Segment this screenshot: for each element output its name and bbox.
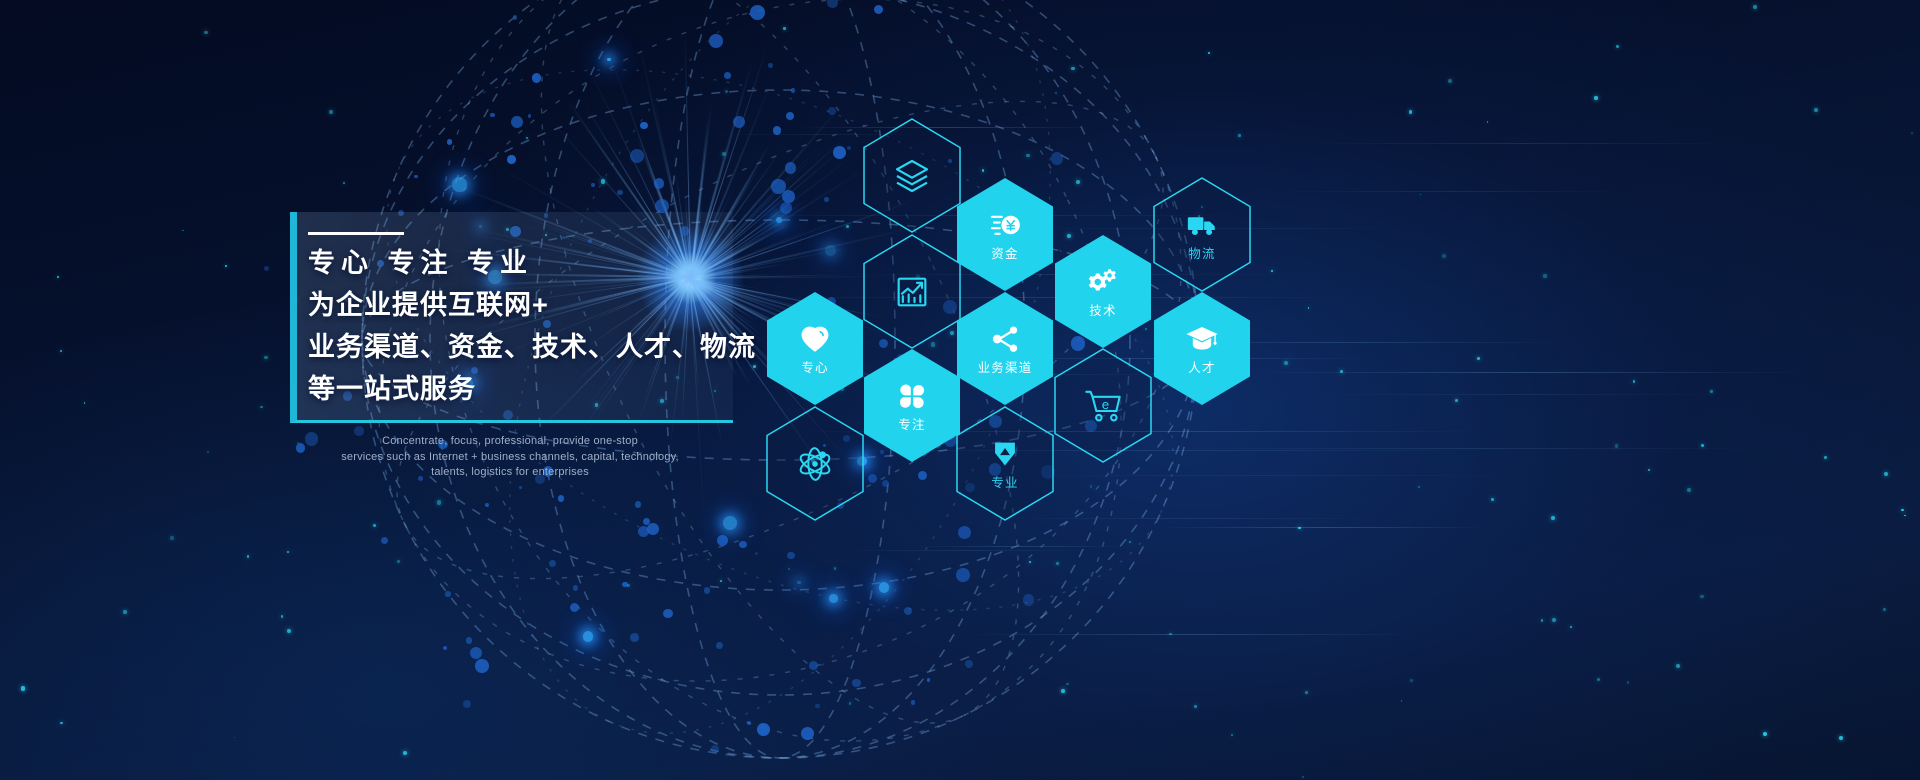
headline-line: 专心 专注 专业 [308, 242, 738, 284]
background-sparkle [1409, 110, 1413, 114]
background-sparkle [287, 551, 289, 553]
hex-content: 业务渠道 [955, 291, 1055, 406]
background-sparkle [397, 560, 400, 563]
background-sparkle [1340, 370, 1343, 373]
light-streak [1163, 527, 1485, 528]
background-sparkle [783, 27, 786, 30]
background-sparkle [1284, 361, 1288, 365]
background-node-dot [607, 58, 611, 62]
background-node-dot [733, 116, 745, 128]
background-node-dot [570, 603, 580, 613]
hex-content: 资金 [955, 177, 1055, 292]
background-node-dot [833, 146, 846, 159]
background-sparkle [1676, 664, 1680, 668]
background-node-dot [630, 149, 644, 163]
subtitle-line: services such as Internet + business cha… [330, 450, 690, 466]
background-node-dot [558, 495, 564, 501]
background-sparkle [1418, 486, 1420, 488]
background-sparkle [170, 536, 174, 540]
background-node-dot [882, 480, 889, 487]
graduation-cap-icon [1185, 322, 1219, 356]
background-node-dot [809, 661, 818, 670]
atom-icon [795, 444, 835, 484]
hex-tile-tech[interactable]: 技术 [1053, 234, 1153, 349]
background-sparkle [753, 365, 756, 368]
background-sparkle [207, 451, 209, 453]
background-sparkle [1627, 681, 1630, 684]
background-node-dot [264, 266, 269, 271]
background-sparkle [1594, 96, 1597, 99]
background-sparkle [1824, 456, 1827, 459]
background-node-dot [519, 486, 522, 489]
background-node-dot [904, 607, 912, 615]
background-node-dot [1023, 594, 1035, 606]
background-sparkle [1839, 736, 1843, 740]
background-sparkle [247, 555, 249, 557]
background-node-dot [643, 518, 651, 526]
background-node-dot [828, 107, 836, 115]
background-node-dot [475, 659, 489, 673]
hex-content [765, 406, 865, 521]
background-sparkle [1491, 498, 1494, 501]
background-sparkle [725, 90, 728, 93]
light-streak [1249, 372, 1807, 373]
background-sparkle [1169, 633, 1171, 635]
hex-label: 物流 [1188, 248, 1215, 261]
background-sparkle [343, 182, 345, 184]
background-sparkle [1305, 691, 1308, 694]
background-node-dot [786, 112, 794, 120]
background-sparkle [627, 584, 630, 587]
background-node-dot [717, 535, 728, 546]
background-node-dot [801, 727, 814, 740]
hex-label: 技术 [1089, 305, 1116, 318]
background-node-dot [583, 631, 594, 642]
hex-label: 业务渠道 [978, 362, 1033, 375]
background-node-dot [507, 155, 516, 164]
background-node-dot [747, 721, 750, 724]
background-sparkle [123, 610, 127, 614]
background-node-dot [485, 503, 489, 507]
background-sparkle [373, 524, 376, 527]
background-node-dot [573, 585, 578, 590]
background-node-dot [296, 443, 306, 453]
background-node-dot [724, 72, 731, 79]
background-sparkle [1194, 705, 1197, 708]
background-sparkle [1090, 485, 1092, 487]
yen-coin-icon [988, 208, 1022, 242]
background-sparkle [297, 442, 299, 444]
light-streak [1311, 394, 1728, 395]
truck-icon [1185, 208, 1219, 242]
background-sparkle [1753, 5, 1757, 9]
background-sparkle [1029, 561, 1031, 563]
background-sparkle [1763, 732, 1767, 736]
light-streak [1177, 448, 1772, 449]
background-sparkle [1026, 154, 1030, 158]
background-node-dot [739, 541, 747, 549]
background-sparkle [1633, 380, 1635, 382]
light-streak [1276, 191, 1628, 192]
background-sparkle [1477, 357, 1480, 360]
light-streak [837, 550, 1092, 551]
clover-icon [895, 379, 929, 413]
background-sparkle [1648, 469, 1651, 472]
background-sparkle [1687, 488, 1691, 492]
background-node-dot [549, 560, 556, 567]
background-sparkle [788, 568, 790, 570]
background-sparkle [21, 686, 25, 690]
background-sparkle [1271, 270, 1273, 272]
background-node-dot [782, 190, 795, 203]
background-node-dot [452, 177, 467, 192]
background-node-dot [918, 471, 927, 480]
background-sparkle [287, 629, 291, 633]
background-sparkle [849, 702, 852, 705]
background-node-dot [414, 175, 418, 179]
background-node-dot [827, 0, 837, 8]
background-node-dot [622, 582, 628, 588]
background-node-dot [381, 537, 388, 544]
background-sparkle [1302, 776, 1304, 778]
background-sparkle [1911, 132, 1913, 134]
background-sparkle [1056, 562, 1059, 565]
hex-content: 物流 [1152, 177, 1252, 292]
background-node-dot [927, 678, 930, 681]
background-sparkle [1487, 121, 1489, 123]
background-node-dot [704, 587, 711, 594]
background-node-dot [528, 114, 532, 118]
background-node-dot [787, 552, 794, 559]
background-sparkle [1455, 399, 1458, 402]
background-node-dot [958, 526, 971, 539]
gears-icon [1086, 265, 1120, 299]
background-node-dot [638, 526, 649, 537]
light-streak [961, 634, 1419, 635]
background-sparkle [1308, 307, 1310, 309]
background-sparkle [1701, 444, 1704, 447]
background-sparkle [526, 137, 528, 139]
background-node-dot [711, 745, 719, 753]
background-node-dot [1051, 152, 1064, 165]
background-sparkle [182, 230, 184, 232]
background-sparkle [1814, 108, 1818, 112]
hex-label: 专业 [991, 477, 1018, 490]
background-sparkle [1066, 683, 1069, 686]
background-sparkle [437, 500, 441, 504]
background-node-dot [640, 122, 647, 129]
background-sparkle [846, 225, 849, 228]
background-sparkle [1543, 274, 1546, 277]
background-sparkle [1055, 92, 1057, 94]
background-node-dot [709, 34, 723, 48]
background-node-dot [532, 73, 542, 83]
background-sparkle [1616, 45, 1619, 48]
hex-tile-talent[interactable]: 人才 [1152, 291, 1252, 406]
background-sparkle [1401, 700, 1403, 702]
hex-label: 人才 [1188, 362, 1215, 375]
background-sparkle [1541, 619, 1543, 621]
background-node-dot [757, 723, 770, 736]
background-sparkle [1904, 515, 1906, 517]
background-sparkle [281, 615, 283, 617]
hero-banner: 专心 专注 专业为企业提供互联网+业务渠道、资金、技术、人才、物流等一站式服务 … [0, 0, 1920, 780]
background-node-dot [447, 139, 453, 145]
background-node-dot [513, 15, 518, 20]
hex-tile-atom[interactable] [765, 406, 865, 521]
background-sparkle [403, 751, 407, 755]
hex-tile-focusHeart[interactable]: 专心 [765, 291, 865, 406]
background-sparkle [720, 580, 722, 582]
background-node-dot [490, 113, 495, 118]
background-sparkle [1884, 472, 1888, 476]
background-sparkle [1597, 678, 1600, 681]
background-sparkle [57, 276, 59, 278]
background-sparkle [1129, 541, 1131, 543]
background-node-dot [466, 637, 472, 643]
hex-tile-layers[interactable] [862, 118, 962, 233]
svg-text:e: e [1102, 396, 1109, 411]
background-node-dot [776, 217, 782, 223]
headline-line: 业务渠道、资金、技术、人才、物流 [308, 326, 738, 368]
background-sparkle [1442, 254, 1446, 258]
headline-line: 为企业提供互联网+ [308, 284, 738, 326]
hex-label: 资金 [991, 248, 1018, 261]
headline-rule [308, 232, 404, 235]
background-node-dot [768, 63, 773, 68]
background-node-dot [647, 523, 659, 535]
background-node-dot [780, 202, 793, 215]
background-sparkle [1298, 527, 1300, 529]
background-node-dot [755, 552, 758, 555]
background-node-dot [791, 88, 796, 93]
subtitle-text: Concentrate, focus, professional, provid… [330, 434, 690, 481]
background-sparkle [1570, 626, 1572, 628]
background-sparkle [1901, 509, 1903, 511]
hex-content [862, 234, 962, 349]
background-node-dot [879, 582, 890, 593]
subtitle-line: talents, logistics for enterprises [330, 465, 690, 481]
background-sparkle [1700, 595, 1703, 598]
hex-tile-pro[interactable]: 专业 [955, 406, 1055, 521]
hex-tile-logistics[interactable]: 物流 [1152, 177, 1252, 292]
background-sparkle [1231, 734, 1233, 736]
light-streak [1309, 143, 1736, 144]
background-node-dot [785, 162, 796, 173]
hex-content: 人才 [1152, 291, 1252, 406]
headline-line: 等一站式服务 [308, 368, 738, 410]
subtitle-line: Concentrate, focus, professional, provid… [330, 434, 690, 450]
hex-content: 专业 [955, 406, 1055, 521]
background-node-dot [825, 245, 835, 255]
background-node-dot [965, 660, 974, 669]
background-node-dot [630, 633, 639, 642]
background-sparkle [84, 402, 86, 404]
layers-icon [892, 156, 932, 196]
background-sparkle [1238, 134, 1241, 137]
background-node-dot [750, 5, 765, 20]
background-sparkle [1208, 52, 1210, 54]
background-sparkle [1076, 180, 1080, 184]
background-sparkle [1551, 516, 1555, 520]
hex-label: 专心 [801, 362, 828, 375]
hex-tile-channels[interactable]: 业务渠道 [955, 291, 1055, 406]
background-node-dot [773, 126, 781, 134]
hex-content: e [1053, 348, 1153, 463]
chart-growth-icon [892, 272, 932, 312]
background-node-dot [868, 474, 877, 483]
background-node-dot [443, 646, 447, 650]
background-node-dot [723, 516, 737, 530]
background-node-dot [824, 197, 829, 202]
background-node-dot [956, 568, 970, 582]
background-node-dot [635, 501, 642, 508]
background-sparkle [834, 567, 836, 569]
background-node-dot [815, 704, 820, 709]
background-sparkle [1071, 67, 1074, 70]
background-sparkle [1710, 390, 1713, 393]
background-sparkle [60, 722, 62, 724]
hex-tile-capital[interactable]: 资金 [955, 177, 1055, 292]
background-sparkle [1061, 689, 1065, 693]
hex-tile-devotion[interactable]: 专注 [862, 348, 962, 463]
background-node-dot [654, 178, 665, 189]
page-title: 专心 专注 专业为企业提供互联网+业务渠道、资金、技术、人才、物流等一站式服务 [308, 242, 738, 410]
background-sparkle [329, 110, 333, 114]
background-node-dot [511, 116, 523, 128]
background-sparkle [722, 152, 726, 156]
hex-tile-chart[interactable] [862, 234, 962, 349]
background-node-dot [591, 183, 595, 187]
hex-content: 专注 [862, 348, 962, 463]
background-sparkle [1420, 194, 1422, 196]
hex-content: 技术 [1053, 234, 1153, 349]
background-node-dot [797, 581, 800, 584]
background-sparkle [1552, 618, 1556, 622]
background-node-dot [911, 700, 916, 705]
background-node-dot [771, 179, 786, 194]
light-streak [915, 546, 1127, 547]
background-sparkle [234, 737, 236, 739]
background-sparkle [982, 169, 984, 171]
background-node-dot [463, 700, 471, 708]
background-node-dot [829, 594, 838, 603]
heart-icon [798, 322, 832, 356]
background-node-dot [874, 5, 883, 14]
hex-label: 专注 [898, 419, 925, 432]
background-node-dot [445, 591, 450, 596]
background-node-dot [617, 190, 623, 196]
background-sparkle [1410, 679, 1413, 682]
background-node-dot [470, 647, 483, 660]
background-node-dot [852, 679, 861, 688]
background-sparkle [1615, 444, 1619, 448]
hex-tile-ecommerce[interactable]: e [1053, 348, 1153, 463]
background-sparkle [1883, 608, 1886, 611]
background-sparkle [1448, 79, 1452, 83]
hex-content: 专心 [765, 291, 865, 406]
background-sparkle [601, 179, 605, 183]
share-nodes-icon [988, 322, 1022, 356]
hex-content [862, 118, 962, 233]
diamond-icon [988, 437, 1022, 471]
light-streak [999, 475, 1535, 476]
cart-e-icon: e [1083, 386, 1123, 426]
background-node-dot [663, 609, 673, 619]
background-node-dot [847, 146, 851, 150]
background-node-dot [305, 432, 318, 445]
background-sparkle [225, 265, 227, 267]
background-sparkle [260, 406, 263, 409]
background-sparkle [204, 31, 208, 35]
background-node-dot [716, 642, 723, 649]
background-sparkle [264, 356, 267, 359]
background-sparkle [60, 350, 62, 352]
